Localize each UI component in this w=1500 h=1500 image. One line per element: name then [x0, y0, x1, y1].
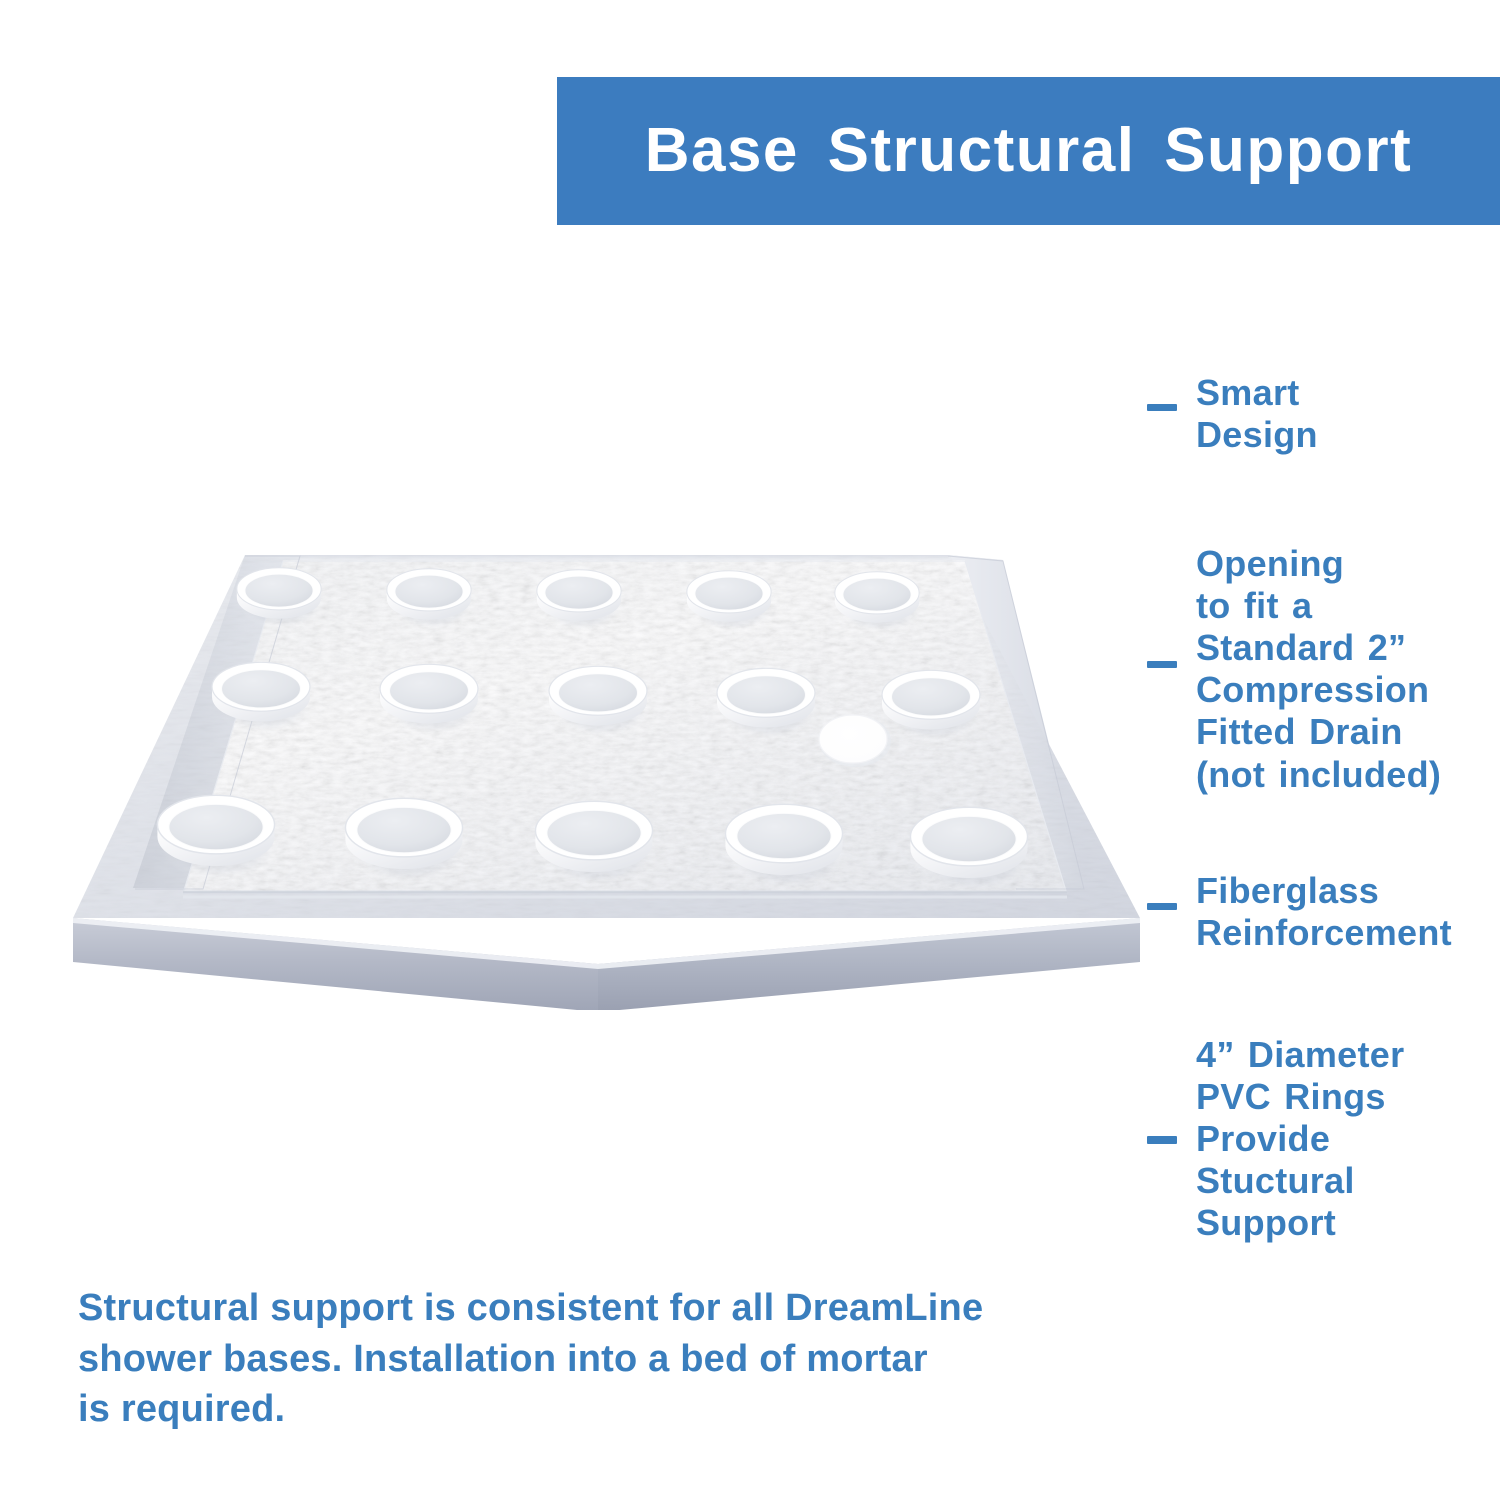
caption-line: Structural support is consistent for all… — [78, 1283, 1008, 1334]
callout-line: (not included) — [1196, 754, 1441, 796]
header-banner: Base Structural Support — [557, 77, 1500, 225]
callout-line: Reinforcement — [1196, 912, 1452, 954]
callout-smart-design: Smart Design — [1196, 372, 1318, 456]
callout-line: Compression — [1196, 669, 1441, 711]
callout-line: PVC Rings — [1196, 1076, 1404, 1118]
callout-drain-opening: Opening to fit a Standard 2” Compression… — [1196, 543, 1441, 796]
callout-dash-pvc-rings — [1147, 1136, 1177, 1144]
callout-line: Smart — [1196, 372, 1318, 414]
callout-line: Fitted Drain — [1196, 711, 1441, 753]
bottom-caption: Structural support is consistent for all… — [78, 1283, 1008, 1435]
callout-pvc-rings: 4” Diameter PVC Rings Provide Stuctural … — [1196, 1034, 1404, 1245]
shower-base-illustration — [55, 520, 1165, 1010]
callout-dash-smart-design — [1147, 404, 1177, 411]
callout-line: Fiberglass — [1196, 870, 1452, 912]
caption-line: shower bases. Installation into a bed of… — [78, 1334, 1008, 1385]
callout-dash-drain-opening — [1147, 661, 1177, 668]
callout-dash-fiberglass — [1147, 903, 1177, 910]
callout-line: Support — [1196, 1202, 1404, 1244]
callout-line: Provide — [1196, 1118, 1404, 1160]
callout-fiberglass: Fiberglass Reinforcement — [1196, 870, 1452, 954]
callout-line: Design — [1196, 414, 1318, 456]
callout-line: 4” Diameter — [1196, 1034, 1404, 1076]
callout-line: Opening — [1196, 543, 1441, 585]
callout-line: to fit a — [1196, 585, 1441, 627]
callout-line: Stuctural — [1196, 1160, 1404, 1202]
caption-line: is required. — [78, 1384, 1008, 1435]
page-title: Base Structural Support — [645, 120, 1413, 182]
drain-opening — [819, 715, 891, 767]
callout-line: Standard 2” — [1196, 627, 1441, 669]
